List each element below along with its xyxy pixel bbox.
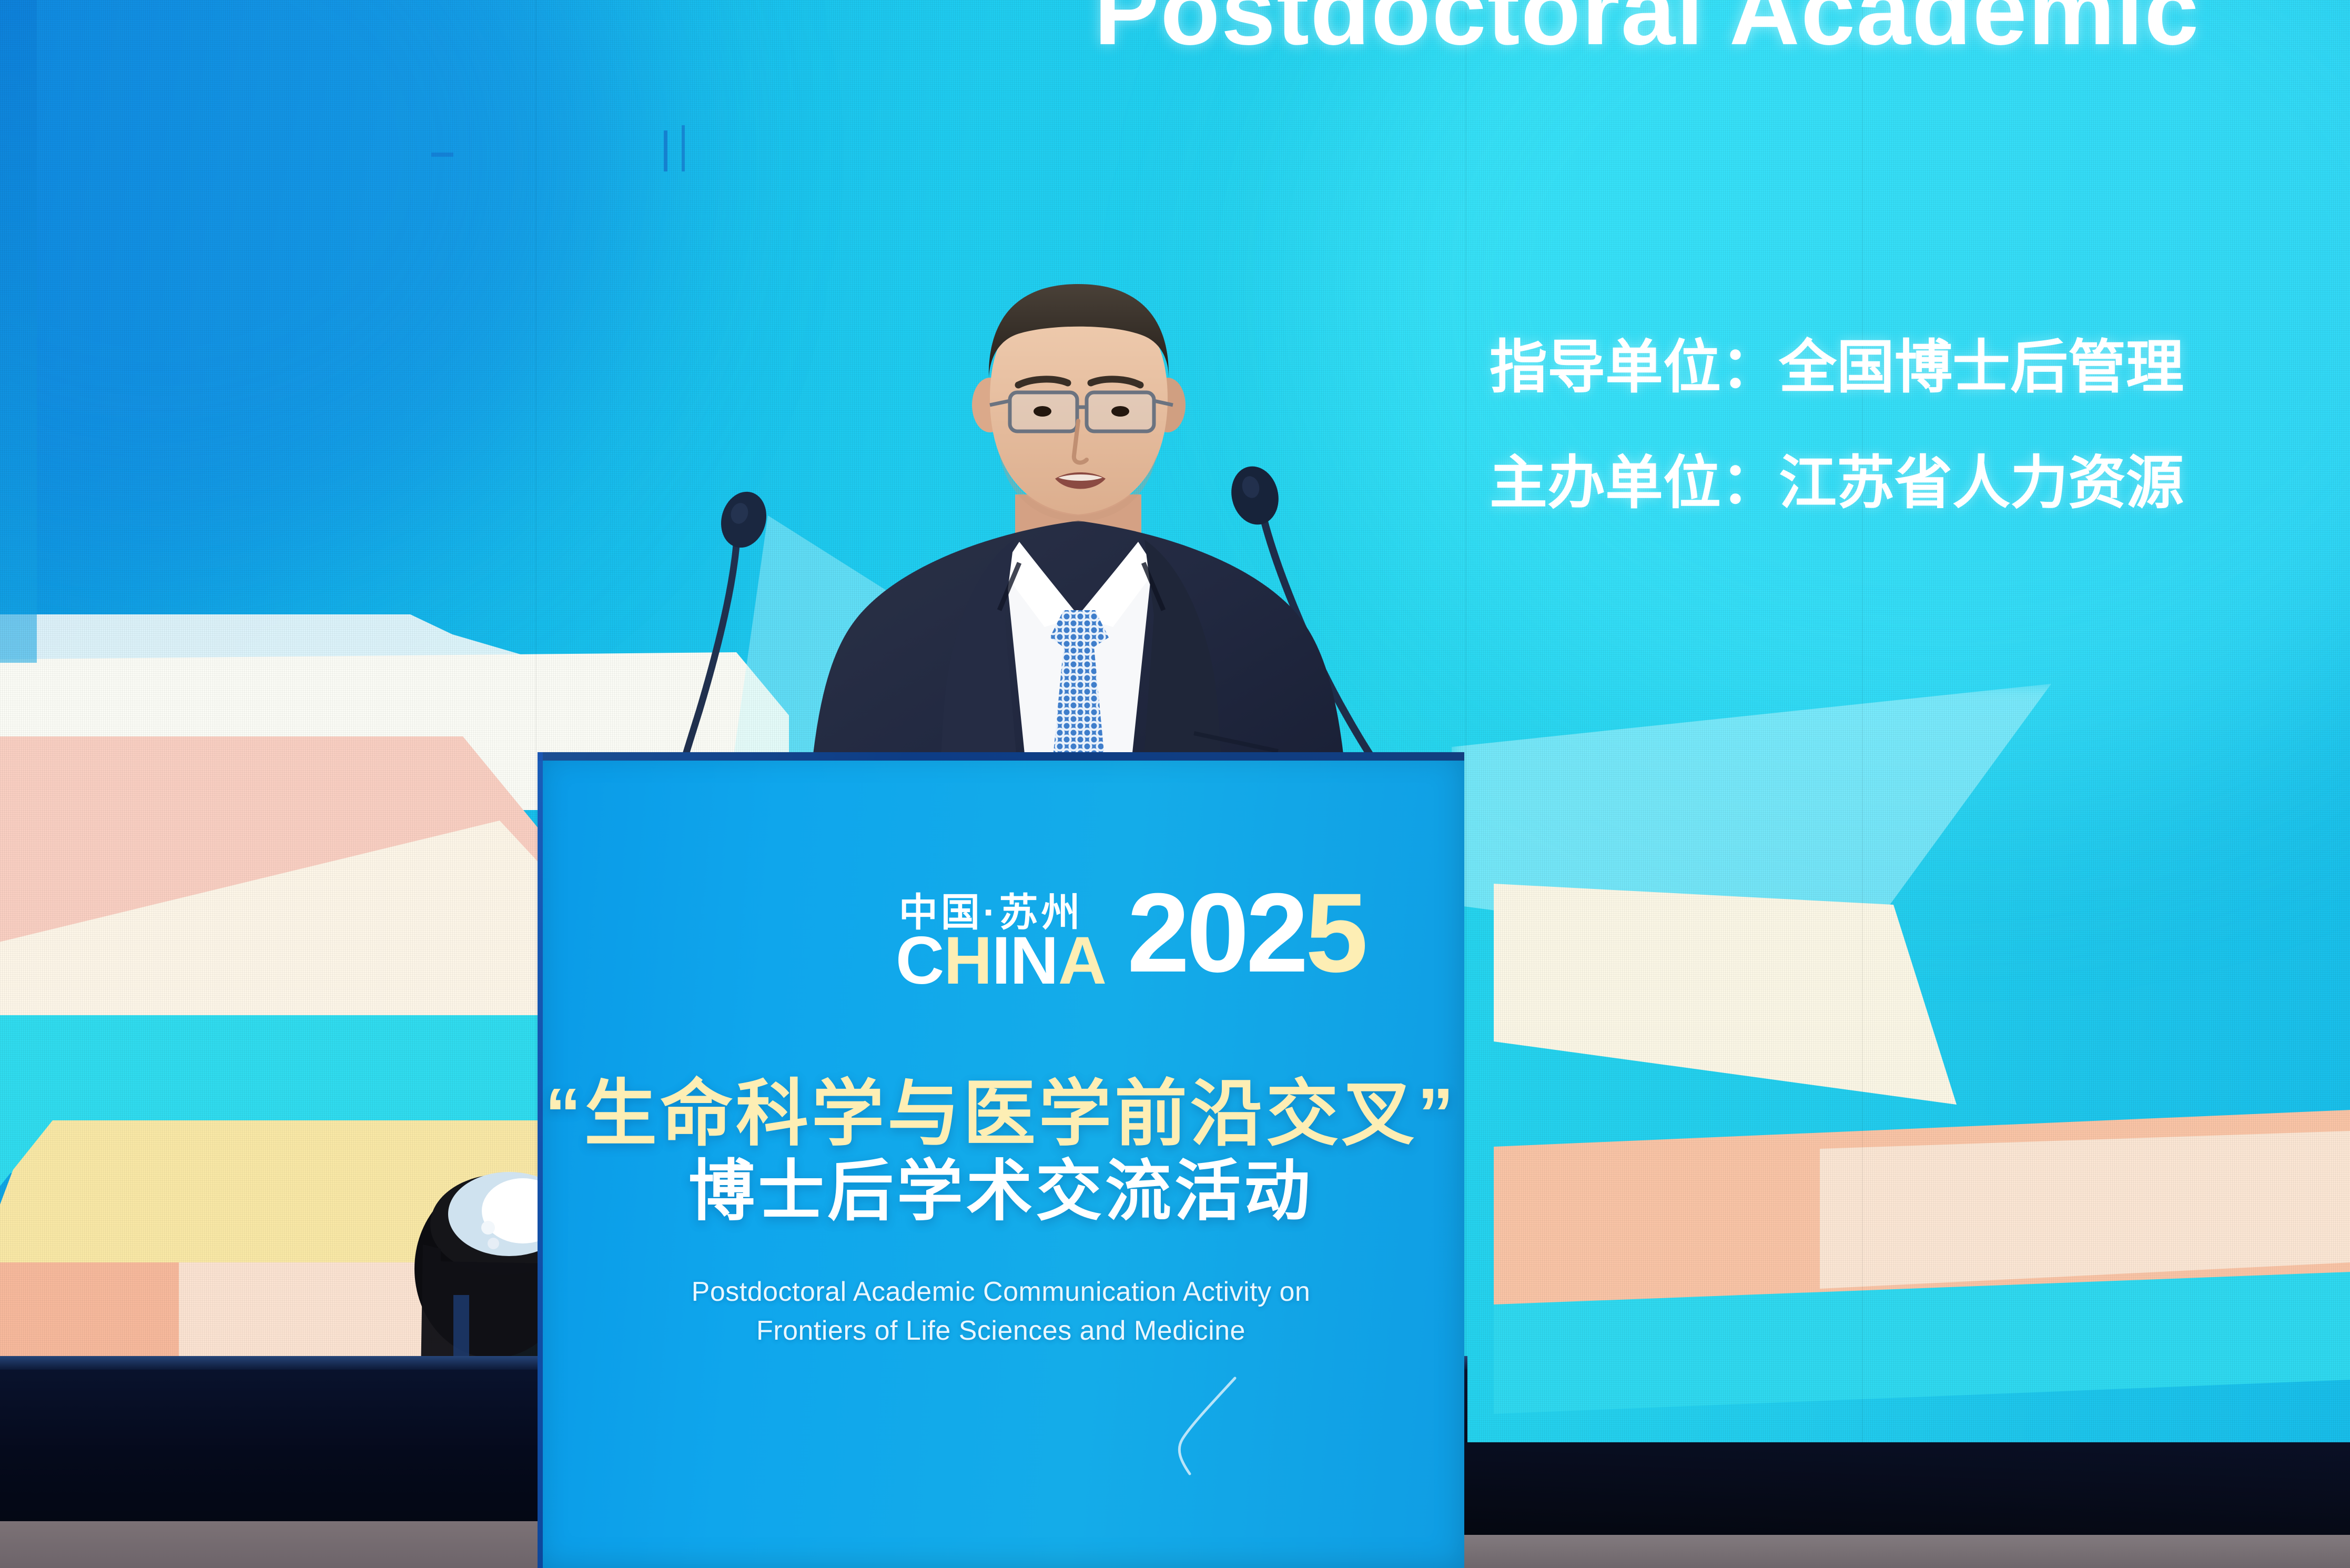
logo-letter-i: I xyxy=(992,923,1010,998)
screen-line-guidance: 指导单位：全国博士后管理 xyxy=(1490,320,2184,404)
stage-floor-right xyxy=(1464,1535,2350,1568)
logo-letter-n: N xyxy=(1010,923,1058,998)
screen-glow-left xyxy=(0,0,631,579)
led-artifact-mark xyxy=(664,130,667,171)
logo-letter-c: C xyxy=(896,923,944,998)
lectern-subtitle-line1: Postdoctoral Academic Communication Acti… xyxy=(538,1273,1464,1312)
lectern-top-edge xyxy=(538,752,1464,761)
deco-slab-ivory-right xyxy=(1494,884,2020,1105)
screen-line-guidance-label: 指导单位： xyxy=(1490,335,1779,400)
logo-year-d4: 5 xyxy=(1305,870,1365,996)
logo-china-word: CHINA xyxy=(896,932,1106,990)
lectern-title-line2: 博士后学术交流活动 xyxy=(538,1154,1464,1229)
logo-letter-a: A xyxy=(1058,923,1106,998)
logo-year-d3: 2 xyxy=(1246,870,1305,996)
screen-line-organizer-value: 江苏省人力资源 xyxy=(1779,451,2184,515)
photo-canvas: Postdoctoral Academic 指导单位：全国博士后管理 主办单位：… xyxy=(0,0,2350,1568)
logo-year: 2025 xyxy=(1127,886,1365,980)
lectern-subtitle: Postdoctoral Academic Communication Acti… xyxy=(538,1273,1464,1351)
logo-year-d2: 0 xyxy=(1187,870,1246,996)
led-artifact-mark xyxy=(431,153,453,157)
screen-headline: Postdoctoral Academic xyxy=(1094,0,2200,67)
screen-line-organizer: 主办单位：江苏省人力资源 xyxy=(1490,436,2184,520)
lectern-title: “生命科学与医学前沿交叉” 博士后学术交流活动 xyxy=(538,1075,1464,1229)
lectern-title-line1: “生命科学与医学前沿交叉” xyxy=(538,1075,1464,1154)
lectern-subtitle-line2: Frontiers of Life Sciences and Medicine xyxy=(538,1312,1464,1351)
screen-line-organizer-label: 主办单位： xyxy=(1490,451,1779,515)
logo-year-d1: 2 xyxy=(1127,870,1187,996)
screen-bezel-left xyxy=(0,0,37,663)
led-artifact-mark xyxy=(682,125,685,171)
logo-letter-h: H xyxy=(944,923,991,998)
lectern: 中国·苏州 CHINA 2025 “生命科学与医学前沿交叉” 博士后学术交流活动… xyxy=(538,752,1464,1568)
screen-line-guidance-value: 全国博士后管理 xyxy=(1779,335,2184,400)
stage-skirt-right xyxy=(1464,1442,2350,1542)
lectern-logo: 中国·苏州 CHINA 2025 xyxy=(538,893,1464,990)
led-panel-seam xyxy=(1862,0,1863,1568)
lectern-surface-artifact xyxy=(1132,1341,1269,1478)
led-panel-seam xyxy=(1465,0,1466,1568)
speaker-head xyxy=(972,284,1186,522)
